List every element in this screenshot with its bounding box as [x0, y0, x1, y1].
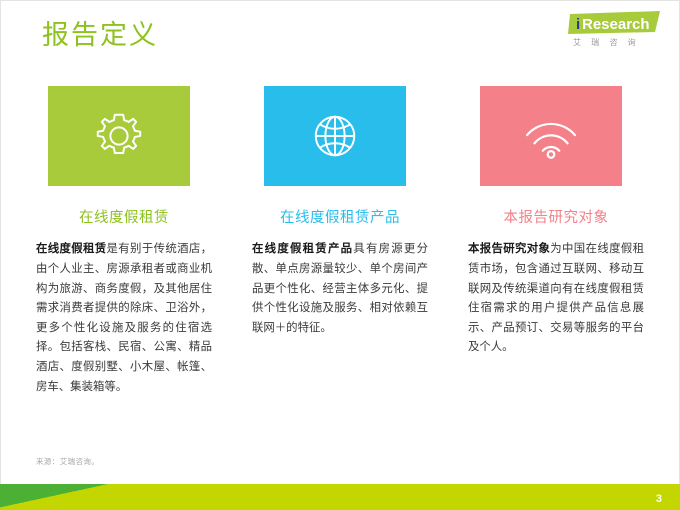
column-body-rest-3: 为中国在线度假租赁市场，包含通过互联网、移动互联网及传统渠道向有在线度假租赁住宿…	[468, 243, 644, 353]
column-heading-3: 本报告研究对象	[468, 210, 644, 227]
icon-box-3	[480, 86, 622, 186]
icon-box-2	[264, 86, 406, 186]
column-body-lead-1: 在线度假租赁	[36, 243, 107, 255]
page-title: 报告定义	[42, 22, 158, 49]
definition-columns: 在线度假租赁 在线度假租赁是有别于传统酒店，由个人业主、房源承租者或商业机构为旅…	[36, 86, 644, 397]
definition-column-1: 在线度假租赁 在线度假租赁是有别于传统酒店，由个人业主、房源承租者或商业机构为旅…	[36, 86, 212, 397]
icon-box-1	[48, 86, 190, 186]
logo-mark-icon: i Research	[554, 10, 666, 40]
page-number: 3	[656, 494, 662, 505]
column-body-lead-3: 本报告研究对象	[468, 243, 550, 255]
slide: 报告定义 i Research 艾 瑞 咨 询 在线度假租赁 在线度假租赁是有别…	[0, 0, 680, 510]
source-note: 来源：艾瑞咨询。	[36, 456, 99, 467]
wifi-icon	[521, 113, 581, 159]
svg-text:Research: Research	[582, 16, 650, 33]
globe-icon	[307, 108, 363, 164]
logo-chinese-label: 艾 瑞 咨 询	[573, 37, 661, 48]
footer-accent-shape	[0, 484, 120, 510]
column-body-lead-2: 在线度假租赁产品	[252, 243, 353, 255]
definition-column-2: 在线度假租赁产品 在线度假租赁产品具有房源更分散、单点房源量较少、单个房间产品更…	[252, 86, 428, 397]
definition-column-3: 本报告研究对象 本报告研究对象为中国在线度假租赁市场，包含通过互联网、移动互联网…	[468, 86, 644, 397]
column-body-2: 在线度假租赁产品具有房源更分散、单点房源量较少、单个房间产品更个性化、经营主体多…	[252, 240, 428, 338]
footer-band: 3	[0, 484, 680, 510]
column-body-1: 在线度假租赁是有别于传统酒店，由个人业主、房源承租者或商业机构为旅游、商务度假，…	[36, 240, 212, 397]
column-heading-1: 在线度假租赁	[36, 210, 212, 227]
iresearch-logo: i Research 艾 瑞 咨 询	[554, 10, 666, 52]
column-body-rest-2: 具有房源更分散、单点房源量较少、单个房间产品更个性化、经营主体多元化、提供个性化…	[252, 243, 428, 333]
column-body-3: 本报告研究对象为中国在线度假租赁市场，包含通过互联网、移动互联网及传统渠道向有在…	[468, 240, 644, 358]
gear-icon	[90, 107, 148, 165]
column-heading-2: 在线度假租赁产品	[252, 210, 428, 227]
svg-text:i: i	[576, 16, 580, 33]
column-body-rest-1: 是有别于传统酒店，由个人业主、房源承租者或商业机构为旅游、商务度假，及其他居住需…	[36, 243, 212, 392]
